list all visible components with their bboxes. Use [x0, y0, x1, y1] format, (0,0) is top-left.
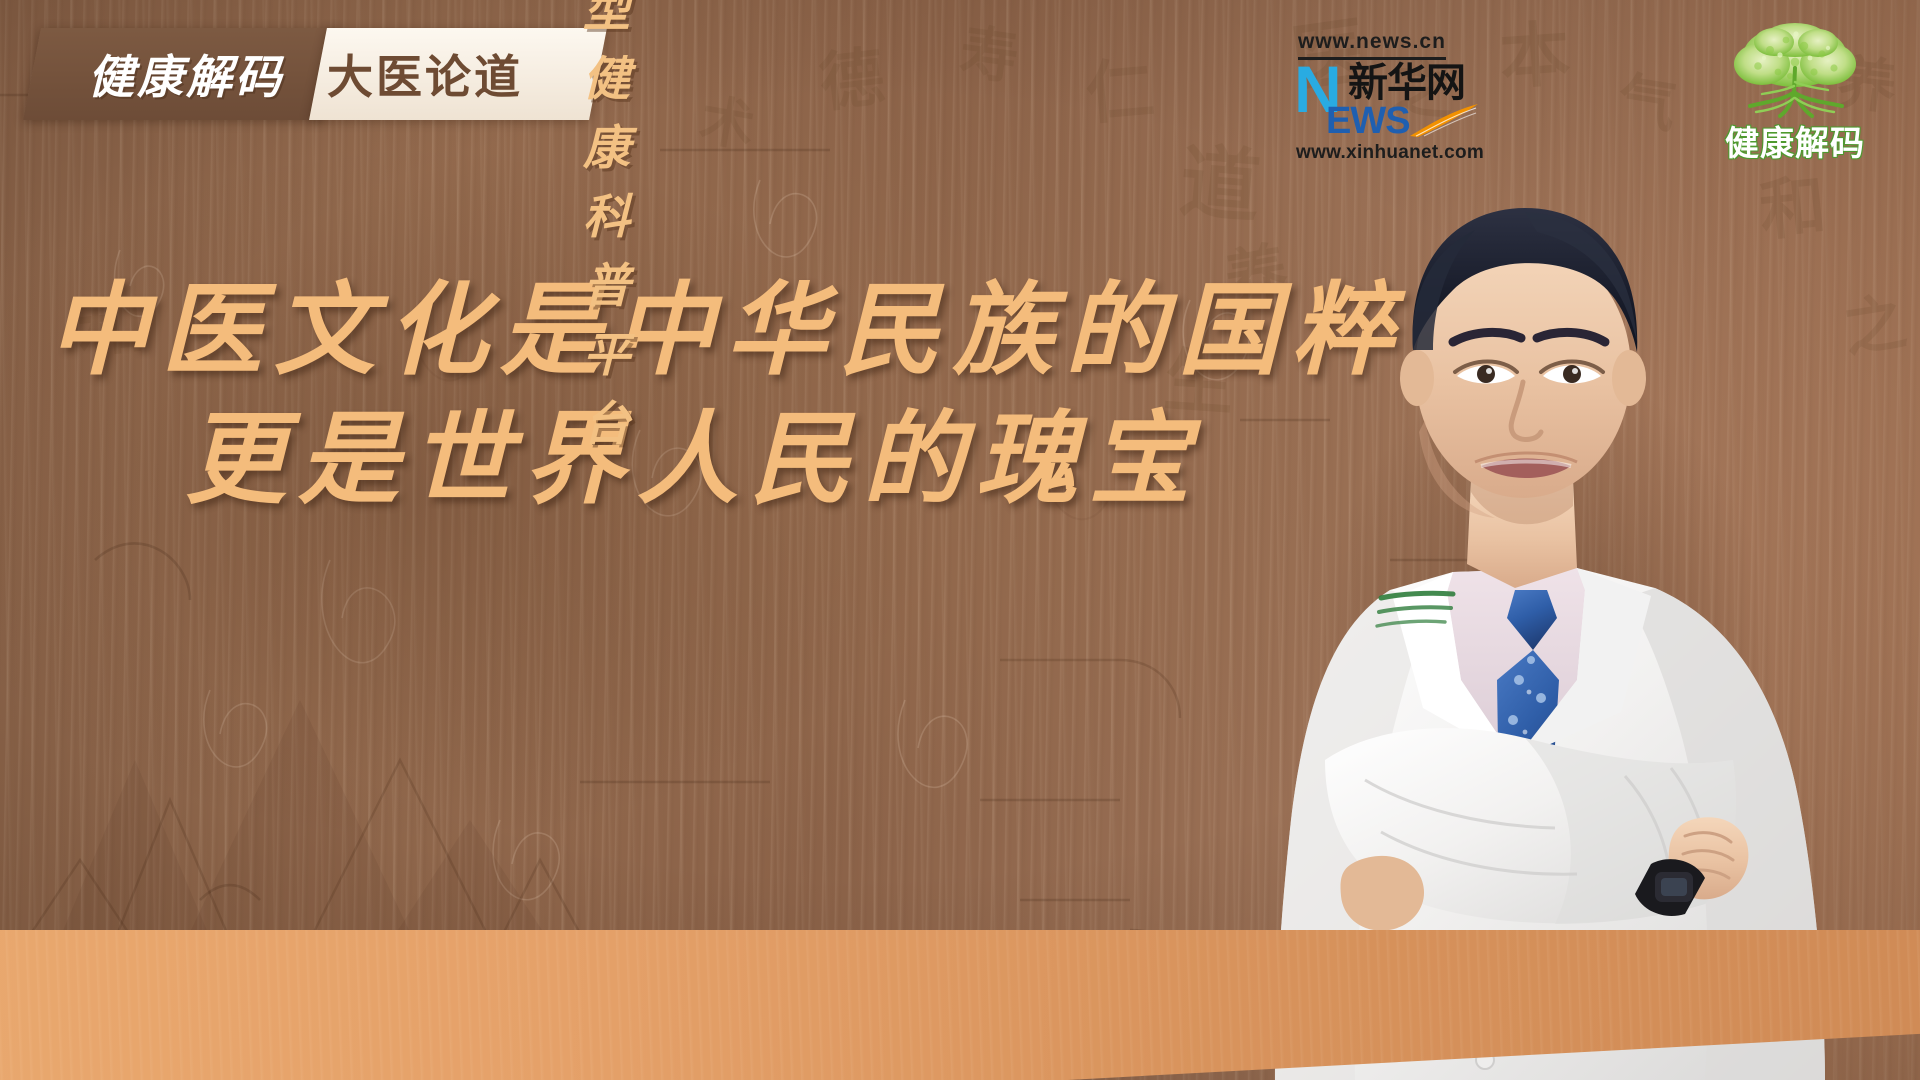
poster-canvas: 医 之 本 气 和 道 养 生 德 寿 仁 术 之 养 和 健康解码 大医论道 …: [0, 0, 1920, 1080]
bottom-band-grain: [0, 930, 1920, 1080]
brand-tag-label: 健康解码: [56, 28, 316, 120]
program-tagline: 新华网大型健康科普平台: [583, 28, 631, 120]
bottom-band-fill: [0, 930, 1920, 1080]
xinhua-url-top: www.news.cn: [1298, 30, 1446, 54]
xinhua-name-cn: 新华网: [1348, 63, 1465, 103]
tree-icon: [1700, 20, 1890, 130]
section-tag-label: 大医论道: [300, 28, 550, 120]
bottom-accent-band: [0, 930, 1920, 1080]
